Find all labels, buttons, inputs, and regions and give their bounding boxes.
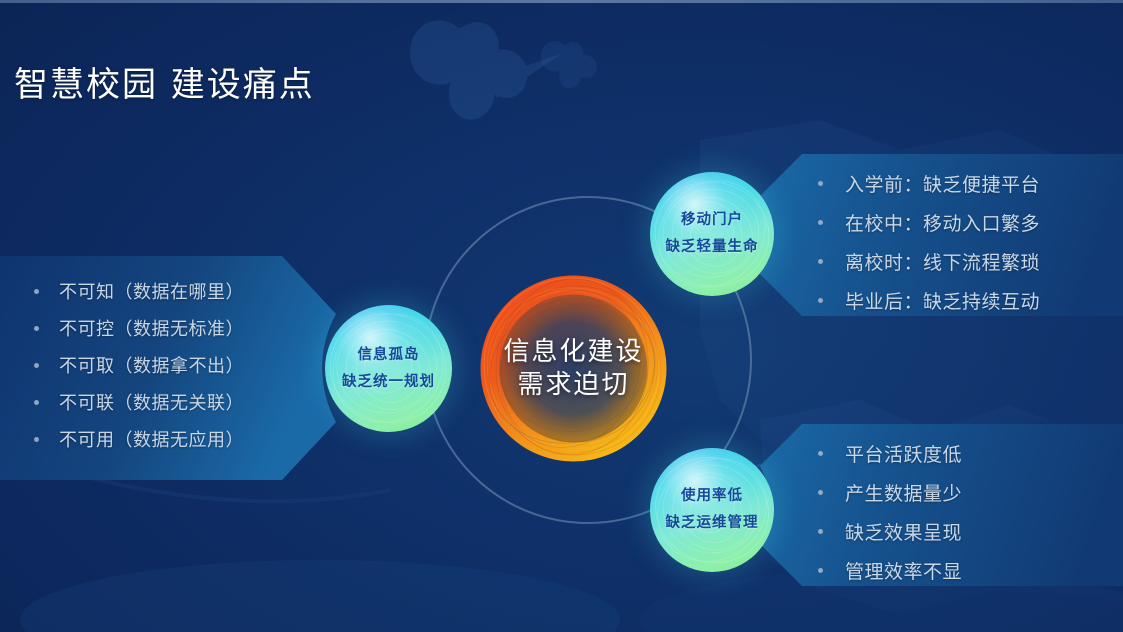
bubble-label-line1: 使用率低	[681, 483, 743, 510]
bubble-label-line1: 信息孤岛	[358, 342, 420, 369]
list-item-label: 管理效率不显	[845, 557, 962, 584]
list-item[interactable]: 不可用（数据无应用）	[34, 426, 314, 452]
list-item[interactable]: 离校时：线下流程繁琐	[818, 248, 1118, 275]
slide-canvas: 智慧校园 建设痛点 不可知（数据在哪里） 不可控（数据无标准）	[0, 0, 1123, 632]
top-divider-rule	[0, 0, 1123, 3]
list-item-label: 不可知（数据在哪里）	[59, 278, 244, 304]
bullet-dot-icon	[34, 400, 39, 405]
panel-top-right[interactable]: 入学前：缺乏便捷平台 在校中：移动入口繁多 离校时：线下流程繁琐 毕业后：缺乏持…	[760, 154, 1123, 316]
bubble-label-line2: 缺乏运维管理	[666, 510, 759, 537]
list-item-label: 毕业后：缺乏持续互动	[845, 287, 1040, 314]
bullet-dot-icon	[34, 326, 39, 331]
bullet-dot-icon	[818, 220, 823, 225]
center-circle[interactable]: 信息化建设 需求迫切	[477, 272, 670, 465]
bullet-dot-icon	[818, 259, 823, 264]
list-item-label: 离校时：线下流程繁琐	[845, 248, 1040, 275]
bubble-label: 移动门户 缺乏轻量生命	[650, 172, 774, 296]
list-item[interactable]: 在校中：移动入口繁多	[818, 209, 1118, 236]
list-item-label: 不可用（数据无应用）	[59, 426, 244, 452]
bubble-label-line2: 缺乏统一规划	[342, 369, 435, 396]
list-item-label: 不可联（数据无关联）	[59, 389, 244, 415]
list-item-label: 产生数据量少	[845, 479, 962, 506]
panel-left-list: 不可知（数据在哪里） 不可控（数据无标准） 不可取（数据拿不出） 不可联（数据无…	[34, 278, 314, 452]
bubble-label: 信息孤岛 缺乏统一规划	[325, 305, 452, 432]
bubble-label-line1: 移动门户	[681, 207, 743, 234]
bullet-dot-icon	[818, 298, 823, 303]
list-item-label: 平台活跃度低	[845, 440, 962, 467]
list-item-label: 入学前：缺乏便捷平台	[845, 170, 1040, 197]
panel-bottom-right-list: 平台活跃度低 产生数据量少 缺乏效果呈现 管理效率不显	[818, 440, 1118, 596]
list-item[interactable]: 缺乏效果呈现	[818, 518, 1118, 545]
bubble-label: 使用率低 缺乏运维管理	[650, 448, 774, 572]
page-title: 智慧校园 建设痛点	[14, 57, 315, 106]
bullet-dot-icon	[818, 568, 823, 573]
list-item[interactable]: 毕业后：缺乏持续互动	[818, 287, 1118, 314]
bullet-dot-icon	[34, 437, 39, 442]
bubble-low-usage[interactable]: 使用率低 缺乏运维管理	[650, 448, 774, 572]
list-item[interactable]: 不可联（数据无关联）	[34, 389, 314, 415]
center-label-line1: 信息化建设	[503, 336, 643, 369]
list-item[interactable]: 产生数据量少	[818, 479, 1118, 506]
bullet-dot-icon	[818, 181, 823, 186]
list-item[interactable]: 不可控（数据无标准）	[34, 315, 314, 341]
list-item[interactable]: 不可取（数据拿不出）	[34, 352, 314, 378]
list-item[interactable]: 平台活跃度低	[818, 440, 1118, 467]
panel-left[interactable]: 不可知（数据在哪里） 不可控（数据无标准） 不可取（数据拿不出） 不可联（数据无…	[0, 256, 340, 480]
bullet-dot-icon	[818, 490, 823, 495]
center-label: 信息化建设 需求迫切	[477, 272, 670, 465]
bubble-information-island[interactable]: 信息孤岛 缺乏统一规划	[325, 305, 452, 432]
list-item-label: 缺乏效果呈现	[845, 518, 962, 545]
bubble-mobile-portal[interactable]: 移动门户 缺乏轻量生命	[650, 172, 774, 296]
list-item-label: 不可控（数据无标准）	[59, 315, 244, 341]
list-item[interactable]: 管理效率不显	[818, 557, 1118, 584]
list-item-label: 在校中：移动入口繁多	[845, 209, 1040, 236]
bullet-dot-icon	[34, 289, 39, 294]
list-item[interactable]: 不可知（数据在哪里）	[34, 278, 314, 304]
bubble-label-line2: 缺乏轻量生命	[666, 234, 759, 261]
panel-top-right-list: 入学前：缺乏便捷平台 在校中：移动入口繁多 离校时：线下流程繁琐 毕业后：缺乏持…	[818, 170, 1118, 326]
center-label-line2: 需求迫切	[517, 369, 629, 402]
bullet-dot-icon	[818, 529, 823, 534]
list-item[interactable]: 入学前：缺乏便捷平台	[818, 170, 1118, 197]
panel-bottom-right[interactable]: 平台活跃度低 产生数据量少 缺乏效果呈现 管理效率不显	[760, 424, 1123, 586]
bullet-dot-icon	[34, 363, 39, 368]
list-item-label: 不可取（数据拿不出）	[59, 352, 244, 378]
bullet-dot-icon	[818, 451, 823, 456]
